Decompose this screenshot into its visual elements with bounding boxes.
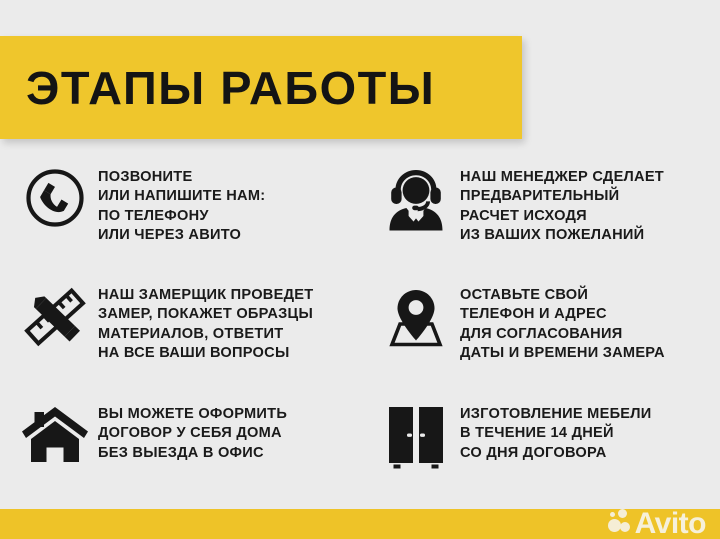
step-label: НАШ МЕНЕДЖЕР СДЕЛАЕТ ПРЕДВАРИТЕЛЬНЫЙ РАС… xyxy=(460,166,664,246)
page-title: ЭТАПЫ РАБОТЫ xyxy=(26,65,435,111)
phone-circle-icon xyxy=(12,166,98,228)
support-agent-icon xyxy=(372,166,460,232)
house-icon xyxy=(12,403,98,463)
steps-grid: ПОЗВОНИТЕ ИЛИ НАПИШИТЕ НАМ: ПО ТЕЛЕФОНУ … xyxy=(0,160,720,500)
step-item-leave-contacts: ОСТАВЬТЕ СВОЙ ТЕЛЕФОН И АДРЕС ДЛЯ СОГЛАС… xyxy=(372,284,716,364)
avito-wordmark: Avito xyxy=(635,511,706,537)
ruler-pencil-icon xyxy=(12,284,98,348)
step-item-production-time: ИЗГОТОВЛЕНИЕ МЕБЕЛИ В ТЕЧЕНИЕ 14 ДНЕЙ СО… xyxy=(372,403,716,471)
avito-watermark: Avito xyxy=(608,508,706,537)
step-item-manager-estimate: НАШ МЕНЕДЖЕР СДЕЛАЕТ ПРЕДВАРИТЕЛЬНЫЙ РАС… xyxy=(372,166,716,246)
step-label: ПОЗВОНИТЕ ИЛИ НАПИШИТЕ НАМ: ПО ТЕЛЕФОНУ … xyxy=(98,166,265,246)
step-item-contract-at-home: ВЫ МОЖЕТЕ ОФОРМИТЬ ДОГОВОР У СЕБЯ ДОМА Б… xyxy=(12,403,362,463)
step-item-measurement-visit: НАШ ЗАМЕРЩИК ПРОВЕДЕТ ЗАМЕР, ПОКАЖЕТ ОБР… xyxy=(12,284,362,364)
map-pin-icon xyxy=(372,284,460,348)
step-item-call-or-write: ПОЗВОНИТЕ ИЛИ НАПИШИТЕ НАМ: ПО ТЕЛЕФОНУ … xyxy=(12,166,362,246)
step-label: НАШ ЗАМЕРЩИК ПРОВЕДЕТ ЗАМЕР, ПОКАЖЕТ ОБР… xyxy=(98,284,313,364)
step-label: ОСТАВЬТЕ СВОЙ ТЕЛЕФОН И АДРЕС ДЛЯ СОГЛАС… xyxy=(460,284,665,364)
avito-dots-icon xyxy=(608,508,634,534)
header-banner: ЭТАПЫ РАБОТЫ xyxy=(0,36,522,139)
step-label: ИЗГОТОВЛЕНИЕ МЕБЕЛИ В ТЕЧЕНИЕ 14 ДНЕЙ СО… xyxy=(460,403,652,463)
step-label: ВЫ МОЖЕТЕ ОФОРМИТЬ ДОГОВОР У СЕБЯ ДОМА Б… xyxy=(98,403,287,463)
wardrobe-icon xyxy=(372,403,460,471)
steps-of-work-poster: ЭТАПЫ РАБОТЫ ПОЗВОНИТЕ ИЛИ НАПИШИТЕ НАМ:… xyxy=(0,0,720,539)
